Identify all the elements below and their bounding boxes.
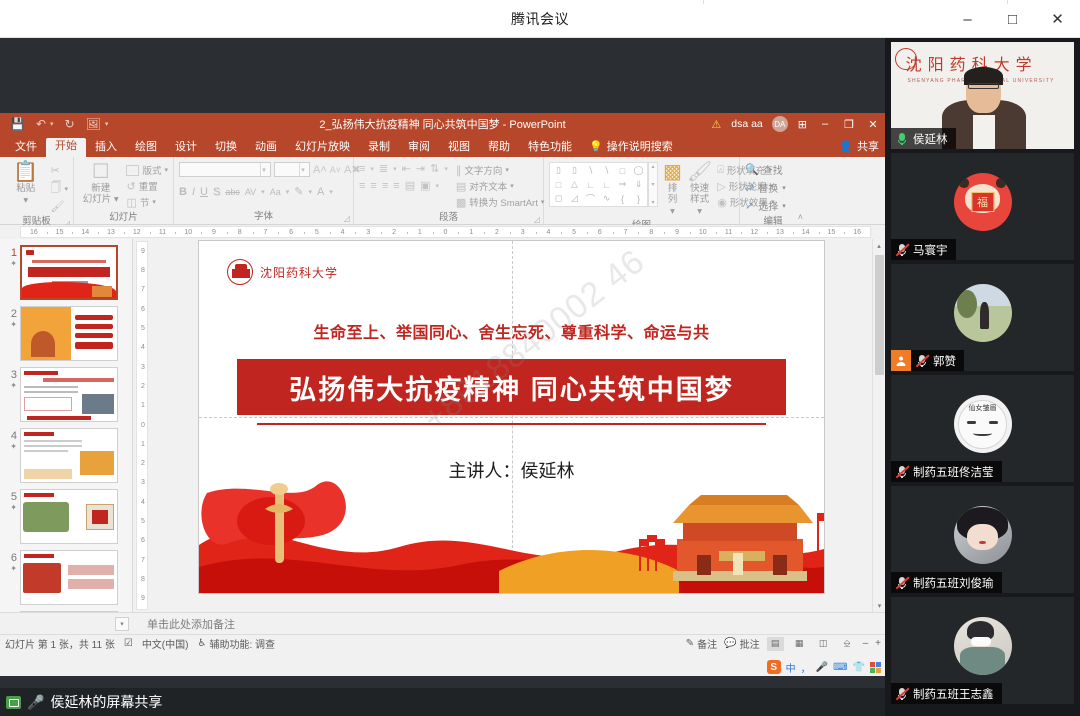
ppt-close-button[interactable]: ✕ <box>861 113 885 135</box>
ime-toolbar: S 中 ， 🎤 ⌨ 👕 <box>763 658 885 676</box>
shapes-more-icon[interactable]: ▾ <box>651 199 654 206</box>
accessibility-label: 辅助功能: 调查 <box>209 636 275 651</box>
select-button[interactable]: ➚选择▾ <box>745 198 786 213</box>
avatar <box>954 284 1012 342</box>
animation-star-icon: ✦ <box>4 564 17 574</box>
undo-dropdown-icon[interactable]: ▾ <box>50 120 54 128</box>
paragraph-dialog-launcher[interactable]: ◿ <box>534 215 540 224</box>
line-shape-icon[interactable]: ∖ <box>583 164 598 177</box>
person-glasses <box>968 83 999 89</box>
left-brace-shape-icon[interactable]: { <box>615 192 630 205</box>
paste-label: 粘贴 <box>16 183 35 194</box>
vruler-tick: 4 <box>137 499 148 507</box>
participant-tile-6[interactable]: 制药五班王志鑫 <box>891 597 1074 704</box>
vruler-tick: 2 <box>137 460 148 468</box>
elbow2-shape-icon[interactable]: ∟ <box>599 178 614 191</box>
ruler-end-spacer <box>871 225 885 239</box>
notes-button[interactable]: ✎备注 <box>686 636 717 651</box>
change-case-button[interactable]: Aa <box>270 187 281 197</box>
participant-nametag: 制药五班王志鑫 <box>891 683 1002 704</box>
slide-thumbnail-7[interactable]: 7✦ <box>0 605 132 612</box>
new-slide-icon: ☐ <box>92 162 110 182</box>
shapes-scroll[interactable]: ▴ ▾ ▾ <box>648 162 658 207</box>
thumbnail-preview[interactable] <box>20 245 118 300</box>
tab-slideshow[interactable]: 幻灯片放映 <box>286 139 359 157</box>
participant-rail[interactable]: 沈阳药科大学SHENYANG PHARMACEUTICAL UNIVERSITY… <box>885 38 1080 716</box>
slide-thumbnail-4[interactable]: 4✦ <box>0 422 132 483</box>
ruler-minor-tick <box>844 232 845 234</box>
slides-group-label: 幻灯片 <box>79 209 168 225</box>
copy-button[interactable]: 🗍▾ <box>50 179 68 198</box>
tab-animations[interactable]: 动画 <box>246 139 286 157</box>
editing-buttons: 🔍查找 ⇄替换▾ ➚选择▾ <box>745 162 786 213</box>
ruler-minor-tick <box>561 232 562 234</box>
arc-shape-icon[interactable]: ⌒ <box>583 192 598 205</box>
ruler-minor-tick <box>304 232 305 234</box>
start-slideshow-icon[interactable]: 🖼 <box>86 118 101 130</box>
font-name-caret-icon: ▾ <box>260 163 270 176</box>
ruler-minor-tick <box>536 232 537 234</box>
arrange-dropdown-icon[interactable]: ▾ <box>670 206 675 217</box>
animation-star-icon: ✦ <box>4 442 17 452</box>
ruler-minor-tick <box>716 232 717 234</box>
ribbon-display-options-icon[interactable]: ⊞ <box>792 118 813 131</box>
paragraph-row-1: ≡▾ ≣▾ ⇤ ⇥ ⇅▾ <box>359 162 448 175</box>
accessibility-status[interactable]: ♿ 辅助功能: 调查 <box>197 636 275 651</box>
avatar: 福 <box>954 173 1012 231</box>
ruler-tick: 9 <box>212 227 216 238</box>
ruler-minor-tick <box>227 232 228 234</box>
align-text-icon: ▤ <box>456 180 466 193</box>
ribbon-group-drawing: ▯ ▯ ∖ ∖ □ ◯ □ △ ∟ ∟ ⇒ ⇓ <box>544 157 740 224</box>
text-direction-button[interactable]: ∥文字方向▾ <box>456 163 545 177</box>
paste-dropdown-icon[interactable]: ▾ <box>23 195 28 206</box>
justify-icon[interactable]: ≡ <box>393 180 399 192</box>
spellcheck-icon[interactable]: ☑ <box>124 638 133 649</box>
vruler-tick: 7 <box>137 557 148 565</box>
ruler-tick: 3 <box>521 227 525 238</box>
avatar <box>954 617 1012 675</box>
ime-voice-input-icon[interactable]: 🎤 <box>816 662 828 673</box>
decrease-font-size-icon[interactable]: A˅ <box>330 165 341 175</box>
tab-record[interactable]: 录制 <box>359 139 399 157</box>
align-right-icon[interactable]: ≡ <box>382 180 388 192</box>
reset-label: 重置 <box>139 179 158 193</box>
vruler-tick: 6 <box>137 537 148 545</box>
maximize-button[interactable]: □ <box>990 0 1035 38</box>
slide-thumbnail-pane[interactable]: 1✦2✦3✦4✦5✦6✦7✦ <box>0 239 133 612</box>
comments-button[interactable]: 💬批注 <box>724 636 759 651</box>
horizontal-guide <box>199 417 824 418</box>
slide-thumbnail-6[interactable]: 6✦ <box>0 544 132 605</box>
shape-gallery[interactable]: ▯ ▯ ∖ ∖ □ ◯ □ △ ∟ ∟ ⇒ ⇓ <box>549 162 658 207</box>
vruler-tick: 2 <box>137 383 148 391</box>
mic-muted-icon[interactable] <box>895 576 909 590</box>
ruler-tick: 14 <box>81 227 89 238</box>
ruler-tick: 0 <box>444 227 448 238</box>
thumbnail-index: 4✦ <box>4 428 20 452</box>
line-spacing-icon[interactable]: ⇅ <box>430 162 439 175</box>
rectangle-shape-icon[interactable]: □ <box>615 164 630 177</box>
participant-name: 制药五班刘俊瑜 <box>913 575 994 591</box>
increase-indent-icon[interactable]: ⇥ <box>416 162 425 175</box>
ribbon-group-slides: ☐ 新建幻灯片 ▾ 版式▾ ↺重置 ◫节▾ 幻灯片 <box>74 157 174 224</box>
mic-muted-icon[interactable] <box>895 687 909 701</box>
freeform-shape-icon[interactable]: ◿ <box>567 192 582 205</box>
screen-share-icon <box>6 696 21 709</box>
right-arrow-shape-icon[interactable]: ⇒ <box>615 178 630 191</box>
ribbon-group-font: ▾ ▾ A˄ A˅ A✖ B I U S abc AV▾ <box>174 157 354 224</box>
textbox2-shape-icon[interactable]: ▯ <box>567 164 582 177</box>
thumbnail-scroll-down-icon[interactable]: ▾ <box>115 617 129 631</box>
slide-thumbnail-5[interactable]: 5✦ <box>0 483 132 544</box>
ruler-tick: 12 <box>133 227 141 238</box>
font-size-input[interactable]: ▾ <box>274 162 310 177</box>
tab-draw[interactable]: 绘图 <box>126 139 166 157</box>
ruler-minor-tick <box>72 232 73 234</box>
ime-skin-icon[interactable]: 👕 <box>853 662 865 673</box>
shapes-scroll-down-icon[interactable]: ▾ <box>651 181 654 188</box>
participant-tile-3[interactable]: 郭赞 <box>891 264 1074 371</box>
replace-label: 替换 <box>758 180 778 195</box>
undo-icon[interactable]: ↶ <box>36 118 46 130</box>
thumbnail-preview[interactable] <box>20 489 118 544</box>
participant-tile-4[interactable]: 仙女皱眉制药五班佟洁莹 <box>891 375 1074 482</box>
ppt-restore-button[interactable]: ❐ <box>837 113 861 135</box>
notes-pane[interactable]: ▾ 单击此处添加备注 <box>0 612 885 634</box>
down-arrow-shape-icon[interactable]: ⇓ <box>631 178 646 191</box>
triangle-shape-icon[interactable]: △ <box>567 178 582 191</box>
participant-tile-2[interactable]: 福马寰宇 <box>891 153 1074 260</box>
ruler-minor-tick <box>690 232 691 234</box>
vruler-tick: 5 <box>137 518 148 526</box>
oval-shape-icon[interactable]: ◯ <box>631 164 646 177</box>
slide-subtitle: 生命至上、举国同心、舍生忘死、尊重科学、命运与共 <box>199 319 824 343</box>
italic-button[interactable]: I <box>192 186 195 198</box>
quick-styles-button[interactable]: 🖌 快速样式 ▾ <box>687 162 712 217</box>
ime-toolbox-icon[interactable] <box>870 662 881 673</box>
thumbnail-pane-footer: ▾ <box>0 617 133 631</box>
scroll-down-icon[interactable]: ▾ <box>873 599 885 612</box>
ruler-minor-tick <box>664 232 665 234</box>
university-seal-icon <box>227 259 253 285</box>
format-painter-button[interactable]: 🖌 <box>50 200 68 213</box>
mic-on-icon: 🎤 <box>27 694 44 711</box>
find-label: 查找 <box>763 162 783 177</box>
ime-keyboard-icon[interactable]: ⌨ <box>833 662 847 673</box>
ppt-minimize-button[interactable]: – <box>813 113 837 135</box>
section-button[interactable]: ◫节▾ <box>126 195 168 209</box>
ruler-tick: 5 <box>572 227 576 238</box>
reading-view-button[interactable]: ◫ <box>815 637 832 651</box>
reset-icon: ↺ <box>126 180 135 193</box>
text-shadow-button[interactable]: S <box>213 186 220 198</box>
ppt-ribbon: 📋 粘贴 ▾ ✂ 🗍▾ 🖌 剪贴板 ◿ <box>0 157 885 225</box>
arrange-icon: ▩ <box>663 162 682 182</box>
accessibility-icon: ♿ <box>197 638 206 649</box>
redo-icon[interactable]: ↻ <box>65 118 75 130</box>
arrow-shape-icon[interactable]: ∖ <box>599 164 614 177</box>
ruler-minor-tick <box>510 232 511 234</box>
quick-styles-dropdown-icon[interactable]: ▾ <box>697 206 702 217</box>
slide-thumbnail-2[interactable]: 2✦ <box>0 300 132 361</box>
ruler-minor-tick <box>124 232 125 234</box>
ruler-corner <box>0 225 20 239</box>
font-dialog-launcher[interactable]: ◿ <box>344 214 350 223</box>
thumbnail-preview[interactable] <box>20 367 118 422</box>
ruler-tick: 2 <box>495 227 499 238</box>
columns-icon[interactable]: ▤ <box>405 179 415 192</box>
ruler-minor-tick <box>201 232 202 234</box>
vertical-ruler-track[interactable]: 9876543210123456789 <box>136 241 148 610</box>
comments-button-label: 批注 <box>740 636 760 651</box>
tab-design[interactable]: 设计 <box>166 139 206 157</box>
underline-button[interactable]: U <box>200 186 208 198</box>
ppt-quick-access-toolbar: 💾 ↶ ▾ ↻ 🖼 ▾ 2_弘扬伟大抗疫精神 同心共筑中国梦 - PowerPo… <box>0 113 885 135</box>
share-button[interactable]: 👤 共享 <box>839 138 879 154</box>
account-avatar[interactable]: DA <box>772 116 788 132</box>
font-row-bottom: B I U S abc AV▾ Aa▾ ✎▾ A▾ <box>179 185 333 198</box>
avatar <box>954 506 1012 564</box>
vruler-tick: 7 <box>137 286 148 294</box>
host-badge <box>891 350 911 371</box>
arrange-label: 排列 <box>663 183 682 205</box>
tab-file[interactable]: 文件 <box>6 139 46 157</box>
zoom-in-button[interactable]: + <box>875 638 881 649</box>
slide-canvas[interactable]: 沈阳药科大学 生命至上、举国同心、舍生忘死、尊重科学、命运与共 弘扬伟大抗疫精神… <box>151 239 872 612</box>
shape-fill-icon: ⍓ <box>717 164 724 177</box>
ruler-tick: 10 <box>699 227 707 238</box>
warning-icon[interactable]: ⚠ <box>706 118 726 131</box>
slide-divider <box>257 423 766 425</box>
cut-button[interactable]: ✂ <box>50 164 68 177</box>
paragraph-list-controls: ≡▾ ≣▾ ⇤ ⇥ ⇅▾ ≡ ≡ ≡ ≡ ▤ <box>359 162 448 192</box>
bold-button[interactable]: B <box>179 186 187 198</box>
ruler-tick: 2 <box>392 227 396 238</box>
ruler-minor-tick <box>330 232 331 234</box>
ruler-minor-tick <box>381 232 382 234</box>
red-silk-tiananmen-art <box>199 475 824 593</box>
participant-nametag: 制药五班佟洁莹 <box>891 461 1002 482</box>
scissors-icon: ✂ <box>50 164 59 177</box>
canvas-vertical-scrollbar[interactable]: ▴ ▾ <box>872 239 885 612</box>
slide-title-band: 弘扬伟大抗疫精神 同心共筑中国梦 <box>237 359 786 415</box>
ruler-minor-tick <box>793 232 794 234</box>
search-icon: 🔍 <box>745 163 759 176</box>
mic-muted-icon[interactable] <box>915 354 929 368</box>
notes-placeholder[interactable]: 单击此处添加备注 <box>133 616 235 632</box>
screen-share-banner: 🎤 侯延林的屏幕共享 <box>0 688 885 716</box>
collapse-ribbon-icon[interactable]: ˄ <box>798 212 803 222</box>
slideshow-view-button[interactable]: ⎒ <box>839 637 856 651</box>
scroll-up-icon[interactable]: ▴ <box>873 239 885 252</box>
ruler-minor-tick <box>253 232 254 234</box>
notes-button-label: 备注 <box>697 636 717 651</box>
paste-button[interactable]: 📋 粘贴 ▾ <box>5 162 46 206</box>
slide-counter[interactable]: 幻灯片 第 1 张，共 11 张 <box>5 636 115 651</box>
ruler-tick: 15 <box>828 227 836 238</box>
shapes-grid[interactable]: ▯ ▯ ∖ ∖ □ ◯ □ △ ∟ ∟ ⇒ ⇓ <box>549 162 648 207</box>
slide-title-text: 弘扬伟大抗疫精神 同心共筑中国梦 <box>289 368 734 407</box>
tell-me-search[interactable]: 💡 操作说明搜索 <box>581 135 681 157</box>
minimize-button[interactable]: – <box>945 0 990 38</box>
find-button[interactable]: 🔍查找 <box>745 162 786 177</box>
zoom-out-button[interactable]: – <box>863 638 869 649</box>
ruler-tick: 8 <box>238 227 242 238</box>
ruler-minor-tick <box>433 232 434 234</box>
font-row-top: ▾ ▾ A˄ A˅ A✖ <box>179 162 361 177</box>
align-text-button[interactable]: ▤对齐文本▾ <box>456 179 545 193</box>
ruler-tick: 14 <box>802 227 810 238</box>
rect2-shape-icon[interactable]: □ <box>551 178 566 191</box>
language-indicator[interactable]: 中文(中国) <box>142 636 189 651</box>
thumbnail-number: 5 <box>11 491 17 503</box>
university-logo: 沈阳药科大学 <box>227 259 338 285</box>
quick-styles-icon: 🖌 <box>687 162 712 182</box>
ruler-tick: 4 <box>546 227 550 238</box>
horizontal-ruler-track[interactable]: 1615141312111098765432101234567891011121… <box>20 226 871 238</box>
ruler-tick: 6 <box>289 227 293 238</box>
new-slide-label: 新建幻灯片 ▾ <box>83 183 119 205</box>
ruler-minor-tick <box>150 232 151 234</box>
reset-button[interactable]: ↺重置 <box>126 179 168 193</box>
thumbnail-preview[interactable] <box>20 428 118 483</box>
thumbnail-number: 1 <box>11 247 17 259</box>
vruler-tick: 0 <box>137 422 148 430</box>
cursor-icon: ➚ <box>745 199 754 212</box>
ruler-tick: 15 <box>56 227 64 238</box>
mic-muted-icon[interactable] <box>895 465 909 479</box>
tab-transitions[interactable]: 切换 <box>206 139 246 157</box>
slide-sorter-view-button[interactable]: ▦ <box>791 637 808 651</box>
section-icon: ◫ <box>126 196 136 209</box>
tab-featured[interactable]: 特色功能 <box>519 139 581 157</box>
ruler-minor-tick <box>741 232 742 234</box>
text-direction-icon: ∥ <box>456 164 462 177</box>
vertical-ruler: 9876543210123456789 <box>133 239 151 612</box>
curve-shape-icon[interactable]: ∿ <box>599 192 614 205</box>
ruler-tick: 7 <box>624 227 628 238</box>
ribbon-group-clipboard: 📋 粘贴 ▾ ✂ 🗍▾ 🖌 剪贴板 ◿ <box>0 157 74 224</box>
shapes-scroll-up-icon[interactable]: ▴ <box>651 163 654 170</box>
new-slide-button[interactable]: ☐ 新建幻灯片 ▾ <box>79 162 122 205</box>
textbox-shape-icon[interactable]: ▯ <box>551 164 566 177</box>
ruler-tick: 4 <box>341 227 345 238</box>
scrollbar-thumb[interactable] <box>875 255 884 375</box>
text-direction-small-icon[interactable]: ▣ <box>420 179 430 192</box>
tab-insert[interactable]: 插入 <box>86 139 126 157</box>
participant-name: 制药五班王志鑫 <box>913 686 994 702</box>
convert-smartart-button[interactable]: ▩转换为 SmartArt▾ <box>456 195 545 209</box>
thumbnail-preview[interactable] <box>20 550 118 605</box>
participant-nametag: 侯延林 <box>891 128 956 149</box>
lightbulb-icon: 💡 <box>589 140 603 153</box>
participant-nametag: 郭赞 <box>911 350 964 371</box>
participant-nametag: 制药五班刘俊瑜 <box>891 572 1002 593</box>
save-icon[interactable]: 💾 <box>10 118 25 130</box>
ruler-tick: 5 <box>315 227 319 238</box>
ime-punctuation-button[interactable]: ， <box>801 660 811 675</box>
ruler-tick: 16 <box>853 227 861 238</box>
thumbnail-preview[interactable] <box>20 306 118 361</box>
slide-thumbnail-1[interactable]: 1✦ <box>0 239 132 300</box>
customize-qat-icon[interactable]: ▾ <box>105 120 109 128</box>
participant-tile-5[interactable]: 制药五班刘俊瑜 <box>891 486 1074 593</box>
increase-font-size-icon[interactable]: A˄ <box>313 164 327 176</box>
meeting-titlebar: 腾讯会议 – □ ✕ <box>0 0 1080 38</box>
share-person-icon: 👤 <box>839 140 853 153</box>
character-spacing-button[interactable]: AV <box>245 187 256 197</box>
mic-muted-icon[interactable] <box>895 243 909 257</box>
smartart-icon: ▩ <box>456 196 466 209</box>
right-brace-shape-icon[interactable]: } <box>631 192 646 205</box>
text-highlight-button[interactable]: ✎ <box>294 185 303 198</box>
align-center-icon[interactable]: ≡ <box>370 180 376 192</box>
mic-on-icon[interactable] <box>895 132 909 146</box>
horizontal-ruler: 1615141312111098765432101234567891011121… <box>0 225 885 239</box>
tab-help[interactable]: 帮助 <box>479 139 519 157</box>
bullets-icon[interactable]: ≡ <box>359 163 365 175</box>
thumbnail-number: 4 <box>11 430 17 442</box>
round-rect-shape-icon[interactable]: ◻ <box>551 192 566 205</box>
thumbnail-index: 5✦ <box>4 489 20 513</box>
vruler-tick: 6 <box>137 306 148 314</box>
layout-button[interactable]: 版式▾ <box>126 163 168 177</box>
ruler-tick: 9 <box>675 227 679 238</box>
ruler-tick: 8 <box>649 227 653 238</box>
tab-review[interactable]: 审阅 <box>399 139 439 157</box>
layout-icon <box>126 165 139 176</box>
ruler-tick: 16 <box>30 227 38 238</box>
ruler-tick: 11 <box>725 227 732 238</box>
font-name-input[interactable]: ▾ <box>179 162 271 177</box>
decrease-indent-icon[interactable]: ⇤ <box>402 162 411 175</box>
paragraph-group-label: 段落 ◿ <box>359 209 538 225</box>
strikethrough-button[interactable]: abc <box>225 187 240 197</box>
vruler-tick: 3 <box>137 479 148 487</box>
thumbnail-number: 3 <box>11 369 17 381</box>
arrange-button[interactable]: ▩ 排列 ▾ <box>663 162 682 217</box>
participant-name: 制药五班佟洁莹 <box>913 464 994 480</box>
sogou-ime-logo-icon[interactable]: S <box>767 660 781 674</box>
ruler-minor-tick <box>458 232 459 234</box>
shape-outline-icon: ▷ <box>717 180 725 193</box>
ime-chinese-mode-button[interactable]: 中 <box>786 660 796 675</box>
close-button[interactable]: ✕ <box>1035 0 1080 38</box>
replace-icon: ⇄ <box>745 181 754 194</box>
font-color-button[interactable]: A <box>317 186 324 198</box>
numbering-icon[interactable]: ≣ <box>379 162 388 175</box>
animation-star-icon: ✦ <box>4 259 17 269</box>
tab-home[interactable]: 开始 <box>46 138 86 157</box>
ruler-tick: 10 <box>184 227 192 238</box>
tab-view[interactable]: 视图 <box>439 139 479 157</box>
participant-name: 郭赞 <box>933 353 956 369</box>
normal-view-button[interactable]: ▤ <box>767 637 784 651</box>
elbow-shape-icon[interactable]: ∟ <box>583 178 598 191</box>
ruler-minor-tick <box>98 232 99 234</box>
account-name[interactable]: dsa aa <box>726 118 768 130</box>
slide-1[interactable]: 沈阳药科大学 生命至上、举国同心、舍生忘死、尊重科学、命运与共 弘扬伟大抗疫精神… <box>199 241 824 593</box>
participant-tile-1[interactable]: 沈阳药科大学SHENYANG PHARMACEUTICAL UNIVERSITY… <box>891 42 1074 149</box>
meeting-window-controls: – □ ✕ <box>945 0 1080 38</box>
slide-thumbnail-3[interactable]: 3✦ <box>0 361 132 422</box>
align-left-icon[interactable]: ≡ <box>359 180 365 192</box>
thumbnail-number: 2 <box>11 308 17 320</box>
animation-star-icon: ✦ <box>4 503 17 513</box>
replace-button[interactable]: ⇄替换▾ <box>745 180 786 195</box>
ppt-editing-area: 1✦2✦3✦4✦5✦6✦7✦ 9876543210123456789 沈阳药科大… <box>0 239 885 612</box>
